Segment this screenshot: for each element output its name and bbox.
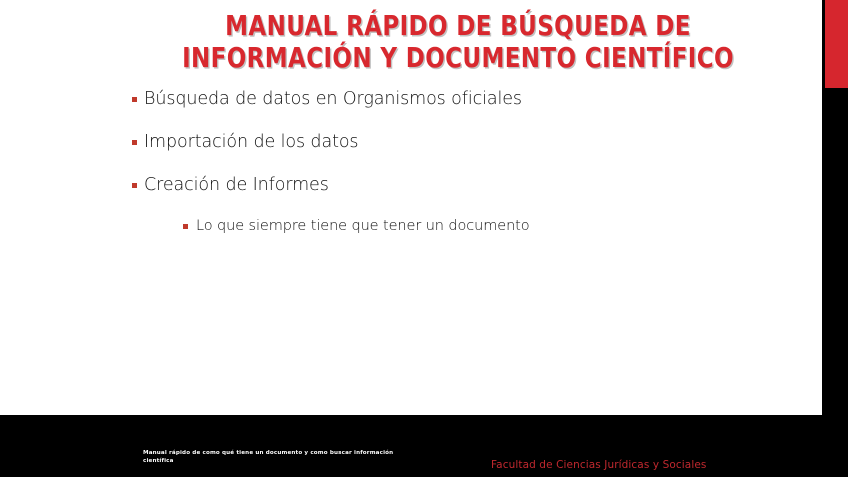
list-item-label: Lo que siempre tiene que tener un docume… bbox=[196, 217, 530, 235]
square-bullet-icon bbox=[132, 183, 137, 188]
list-item-sub: Lo que siempre tiene que tener un docume… bbox=[183, 217, 772, 235]
list-item-label: Creación de Informes bbox=[144, 174, 329, 196]
bullet-list: Búsqueda de datos en Organismos oficiale… bbox=[132, 88, 772, 256]
square-bullet-icon bbox=[132, 140, 137, 145]
page-title: Manual rápido de búsqueda de información… bbox=[160, 10, 755, 74]
list-item: Búsqueda de datos en Organismos oficiale… bbox=[132, 88, 772, 110]
list-item-label: Importación de los datos bbox=[144, 131, 358, 153]
footer-note: Manual rápido de como qué tiene un docum… bbox=[143, 449, 398, 465]
right-accent-bar bbox=[825, 0, 848, 88]
square-bullet-icon bbox=[183, 224, 188, 229]
list-item-label: Búsqueda de datos en Organismos oficiale… bbox=[144, 88, 522, 110]
slide-footer: Manual rápido de como qué tiene un docum… bbox=[0, 415, 848, 477]
square-bullet-icon bbox=[132, 97, 137, 102]
slide: Manual rápido de búsqueda de información… bbox=[0, 0, 848, 477]
list-item: Creación de Informes bbox=[132, 174, 772, 196]
list-item: Importación de los datos bbox=[132, 131, 772, 153]
faculty-label: Facultad de Ciencias Jurídicas y Sociale… bbox=[491, 459, 706, 472]
